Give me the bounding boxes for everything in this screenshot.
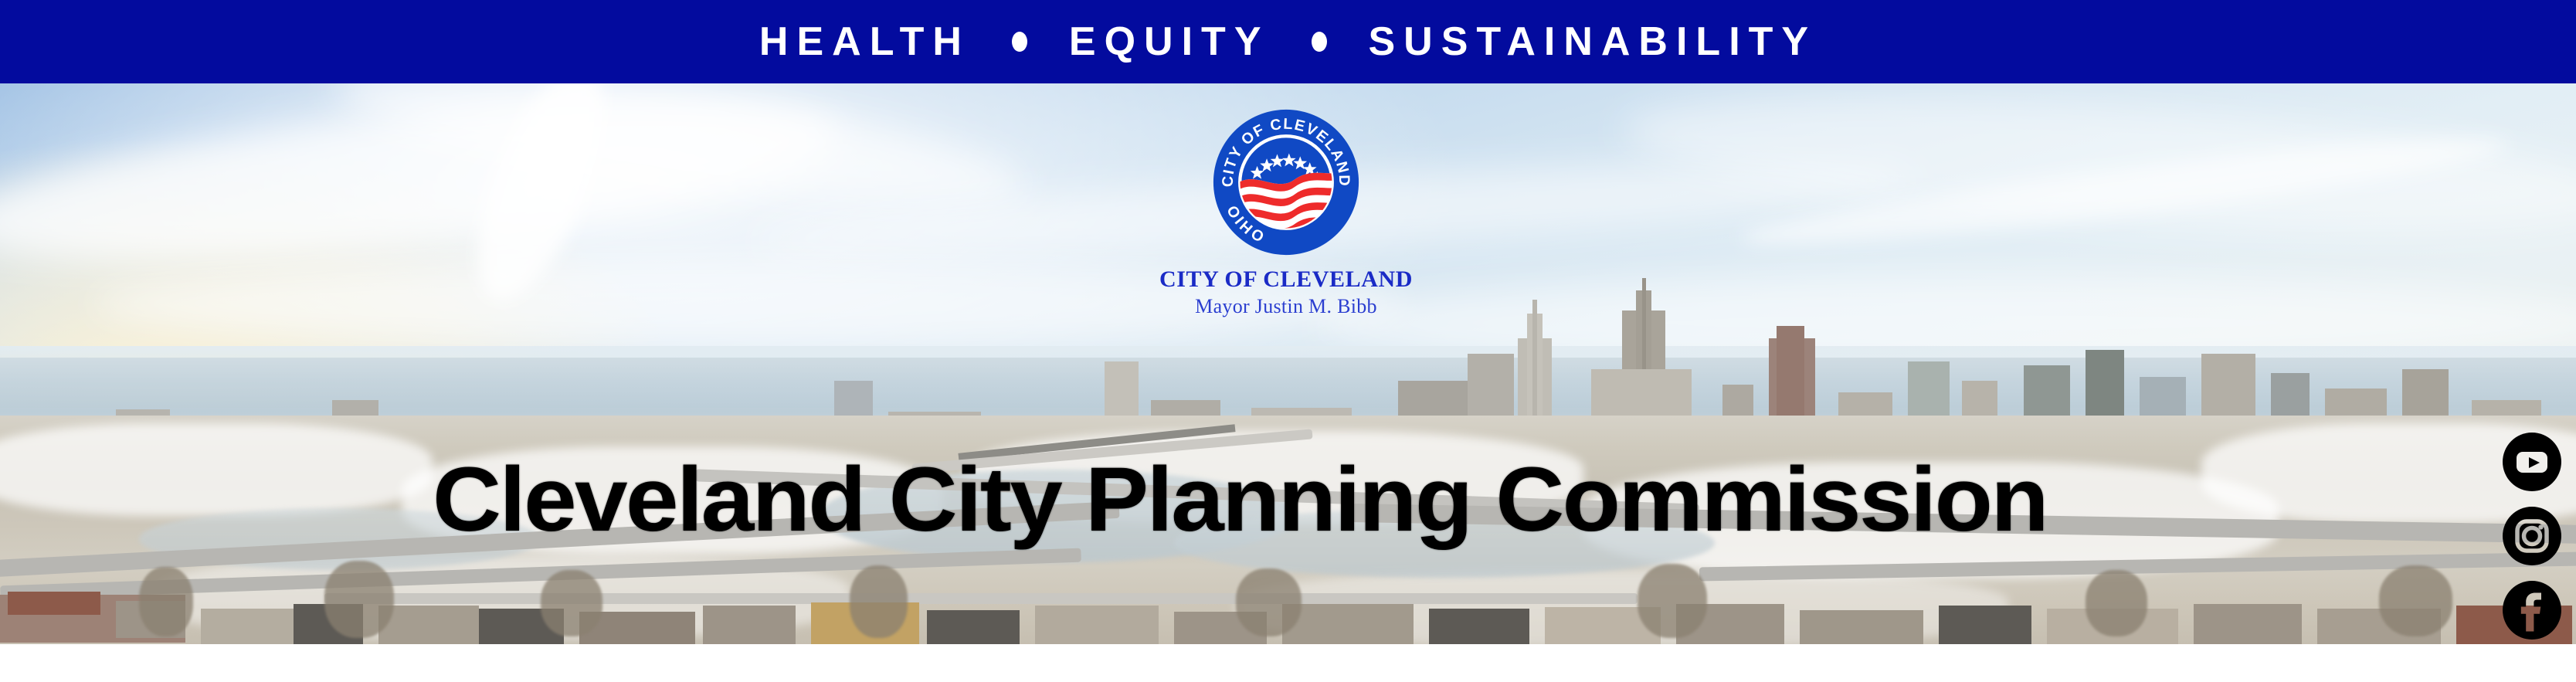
bullet-dot-icon [1312,32,1327,52]
social-links [2501,431,2564,653]
facebook-icon[interactable] [2501,579,2563,641]
city-of-cleveland-seal-icon: CITY OF CLEVELAND OHIO [1212,108,1360,256]
page-title: Cleveland City Planning Commission [433,454,2232,545]
tagline-word-health: HEALTH [759,22,970,62]
page-root: HEALTH EQUITY SUSTAINABILITY [0,0,2576,682]
city-branding-block: CITY OF CLEVELAND OHIO CITY OF CLEVELAND… [1101,108,1471,317]
city-name-label: CITY OF CLEVELAND [1101,267,1471,292]
instagram-icon[interactable] [2501,505,2563,567]
youtube-icon[interactable] [2501,431,2563,493]
tagline-text-group: HEALTH EQUITY SUSTAINABILITY [759,22,1817,62]
tagline-word-sustainability: SUSTAINABILITY [1369,22,1817,62]
bullet-dot-icon [1012,32,1027,52]
bottom-whitespace [0,644,2576,682]
tagline-word-equity: EQUITY [1069,22,1270,62]
mayor-name-label: Mayor Justin M. Bibb [1101,296,1471,317]
tagline-banner: HEALTH EQUITY SUSTAINABILITY [0,0,2576,83]
